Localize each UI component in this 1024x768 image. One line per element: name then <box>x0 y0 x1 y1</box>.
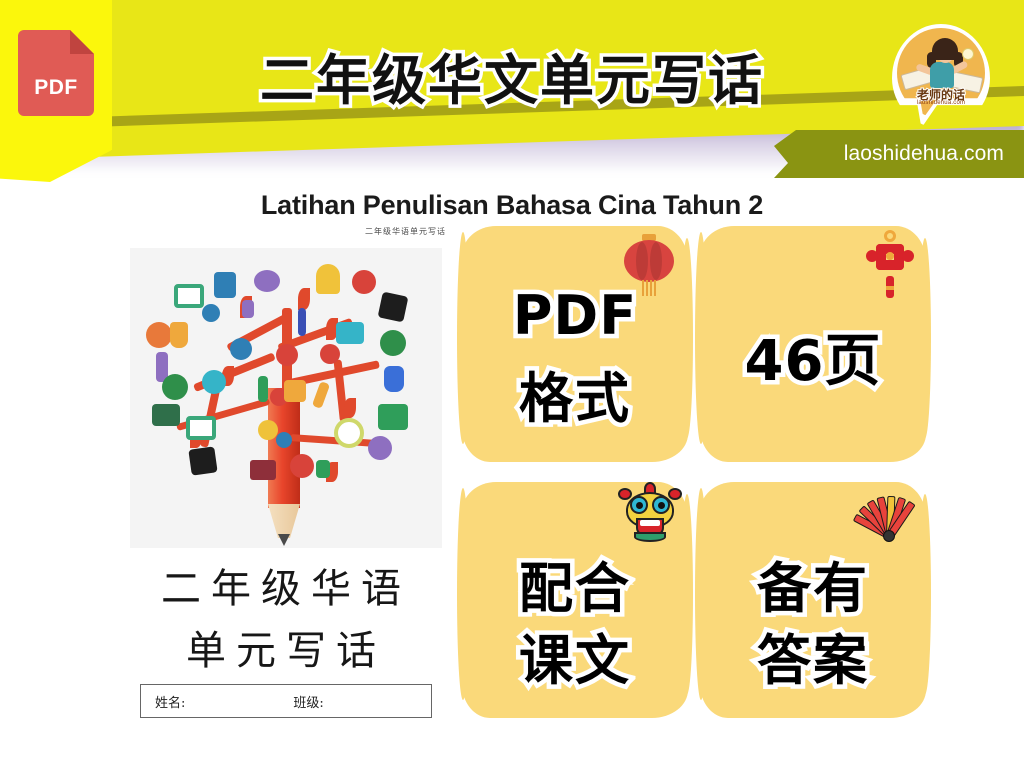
soccer-ball-icon <box>368 436 392 460</box>
pencil-icon <box>312 381 330 409</box>
logo-lightbulb-icon <box>962 48 974 60</box>
website-url-label: laoshidehua.com <box>844 142 1004 166</box>
pen-icon <box>298 308 306 336</box>
basketball-icon <box>146 322 172 348</box>
book-icon <box>214 272 236 298</box>
feature-card-match-line1: 配合 <box>462 544 688 623</box>
page-title: 二年级华文单元写话 <box>0 36 1024 115</box>
abc-block-icon <box>378 292 409 323</box>
book-cover-preview[interactable]: 二年级华语单元写话 <box>122 226 450 726</box>
flask-icon <box>384 366 404 392</box>
tree-trunk <box>268 388 300 508</box>
lightbulb-icon <box>316 264 340 294</box>
abc-block-icon <box>188 446 217 475</box>
tv-icon <box>186 416 216 440</box>
feature-card-answer[interactable]: 备有 答案 <box>700 482 926 718</box>
globe-icon <box>334 418 364 448</box>
gear-icon <box>276 432 292 448</box>
feature-card-match-line2: 课文 <box>462 616 688 695</box>
feature-card-pages[interactable]: 46页 <box>700 226 926 462</box>
pencil-wood <box>268 504 300 538</box>
tree-leaf <box>344 398 356 418</box>
briefcase-icon <box>250 460 276 480</box>
treble-clef-icon <box>258 376 268 402</box>
lantern-icon <box>622 234 676 298</box>
folding-fan-icon <box>858 490 918 542</box>
soccer-ball-icon <box>380 330 406 356</box>
pencil-tip <box>278 534 290 546</box>
feature-cards: PDF 格式 46页 配合 课文 <box>462 226 962 728</box>
feature-card-answer-line2: 答案 <box>700 616 926 695</box>
apple-icon <box>320 344 340 364</box>
dice-icon <box>230 338 252 360</box>
balloon-icon <box>202 370 226 394</box>
feature-card-pdf[interactable]: PDF 格式 <box>462 226 688 462</box>
soccer-ball-icon <box>162 374 188 400</box>
tv-icon <box>174 284 204 308</box>
feature-card-answer-line1: 备有 <box>700 544 926 623</box>
feature-card-pdf-line2: 格式 <box>462 354 688 433</box>
website-url-ribbon[interactable]: laoshidehua.com <box>774 130 1024 178</box>
logo-teacher-hair <box>932 38 958 60</box>
chinese-knot-icon <box>862 230 916 302</box>
apple-icon <box>276 344 298 366</box>
dice-icon <box>352 270 376 294</box>
logo-url-label: laoshidehua.com <box>892 100 990 106</box>
brand-logo[interactable]: 老师的话 laoshidehua.com <box>892 24 990 128</box>
pencil-tree-illustration <box>130 248 442 548</box>
cover-mini-header: 二年级华语单元写话 <box>365 226 446 237</box>
dice-icon <box>284 380 306 402</box>
book-icon <box>378 404 408 430</box>
header-banner: PDF 二年级华文单元写话 老师的话 laoshidehua.com laosh… <box>0 0 1024 182</box>
apple-icon <box>290 454 314 478</box>
flask-icon <box>170 322 188 348</box>
logo-teacher-body <box>930 62 954 88</box>
music-note-icon <box>316 460 330 478</box>
clock-icon <box>202 304 220 322</box>
feature-card-pages-line1: 46页 <box>700 316 926 397</box>
palette-icon <box>254 270 280 292</box>
music-note-icon <box>242 300 254 318</box>
cover-name-class-box: 姓名: 班级: <box>140 684 432 718</box>
cover-title-line-2: 单元写话 <box>122 618 450 676</box>
feature-card-match[interactable]: 配合 课文 <box>462 482 688 718</box>
tree-leaf <box>298 288 310 310</box>
briefcase-icon <box>336 322 364 344</box>
cover-name-field-label: 姓名: <box>155 692 185 711</box>
gear-icon <box>258 420 278 440</box>
cover-class-field-label: 班级: <box>293 692 323 711</box>
lion-dance-icon <box>618 482 682 544</box>
subtitle: Latihan Penulisan Bahasa Cina Tahun 2 <box>0 190 1024 221</box>
cover-title-line-1: 二年级华语 <box>122 556 450 614</box>
book-icon <box>152 404 180 426</box>
